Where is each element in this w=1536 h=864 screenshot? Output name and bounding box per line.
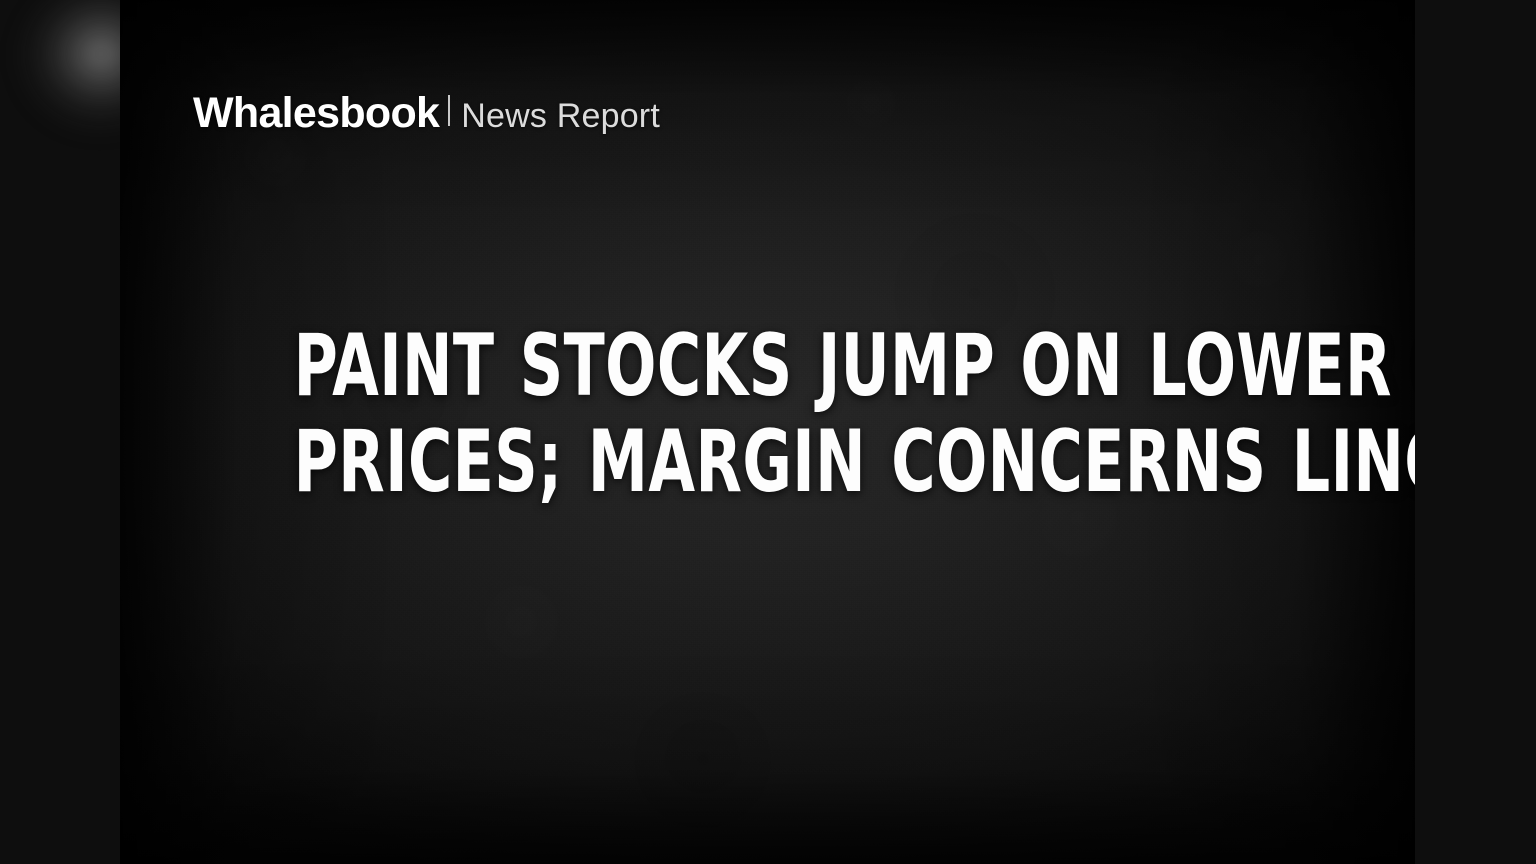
brand-lockup: Whalesbook News Report bbox=[193, 92, 660, 135]
brand-name: Whalesbook bbox=[193, 92, 439, 135]
news-card-slide: Whalesbook News Report PAINT STOCKS JUMP… bbox=[0, 0, 1536, 864]
headline-line-2: PRICES; MARGIN CONCERNS LINGER bbox=[294, 414, 1242, 510]
brand-divider-icon bbox=[448, 95, 450, 126]
brand-subtitle: News Report bbox=[461, 99, 660, 133]
content-panel: Whalesbook News Report PAINT STOCKS JUMP… bbox=[120, 0, 1415, 864]
headline: PAINT STOCKS JUMP ON LOWER OIL PRICES; M… bbox=[120, 318, 1415, 510]
headline-line-1: PAINT STOCKS JUMP ON LOWER OIL bbox=[294, 318, 1242, 414]
